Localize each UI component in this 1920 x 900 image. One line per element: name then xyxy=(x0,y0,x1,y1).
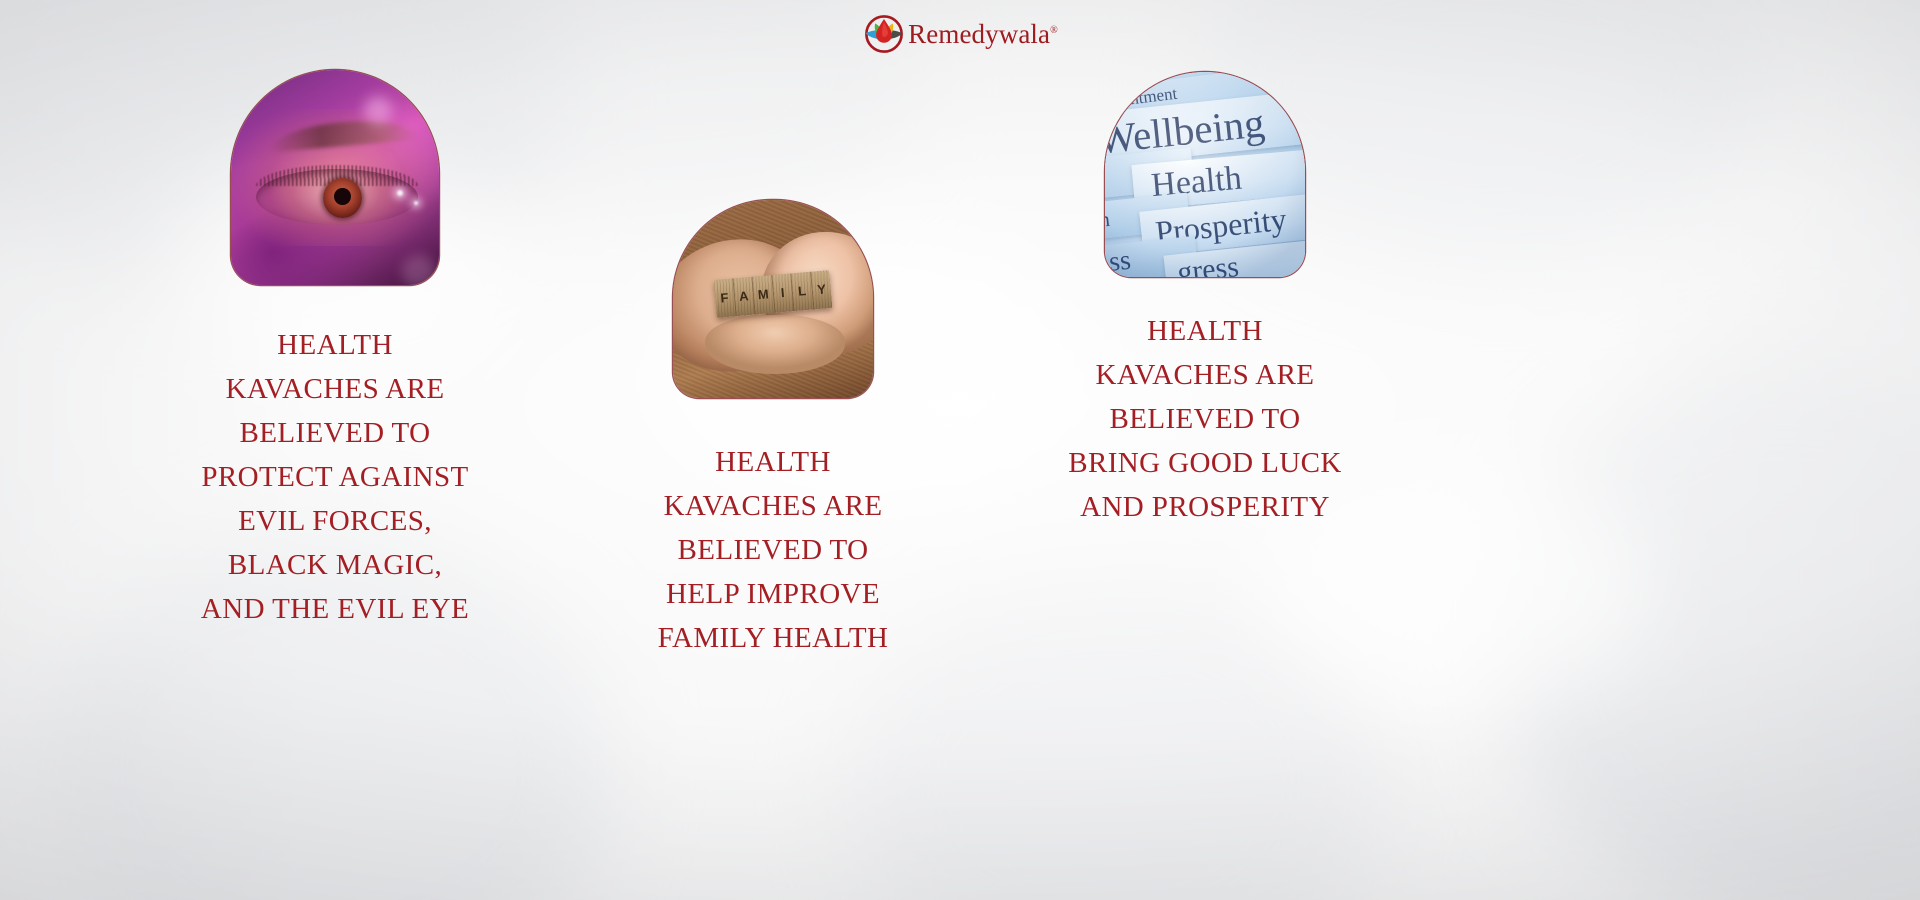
purple-lit-eye-photo xyxy=(231,70,439,285)
benefit-cards: HEALTH KAVACHES ARE BELIEVED TO PROTECT … xyxy=(0,0,1920,900)
paper-strips-art: ntentment Wellbeing ar Health tion Prosp… xyxy=(1105,72,1305,277)
fingers xyxy=(705,315,845,374)
letter-block: Y xyxy=(811,270,833,309)
brand-logo-bar: Remedywala® xyxy=(0,10,1920,58)
brand-name: Remedywala® xyxy=(908,21,1058,48)
registered-trademark-mark: ® xyxy=(1050,25,1058,36)
card-evil-eye: HEALTH KAVACHES ARE BELIEVED TO PROTECT … xyxy=(90,70,580,632)
blue-tint-overlay xyxy=(1105,72,1305,277)
card-family-health: F A M I L Y HEALTH KAVACHES ARE BELIEVED… xyxy=(528,200,1018,660)
brand-name-text: Remedywala xyxy=(908,19,1050,49)
card-good-luck-prosperity: ntentment Wellbeing ar Health tion Prosp… xyxy=(960,72,1450,529)
card-caption: HEALTH KAVACHES ARE BELIEVED TO PROTECT … xyxy=(201,323,469,632)
brand-logo[interactable]: Remedywala® xyxy=(862,12,1058,56)
card-caption: HEALTH KAVACHES ARE BELIEVED TO BRING GO… xyxy=(1068,309,1341,529)
paper-strips-wellbeing-photo: ntentment Wellbeing ar Health tion Prosp… xyxy=(1105,72,1305,277)
card-caption: HEALTH KAVACHES ARE BELIEVED TO HELP IMP… xyxy=(658,440,889,660)
lotus-droplet-icon xyxy=(862,12,906,56)
eye-image-art xyxy=(231,70,439,285)
lens-flare xyxy=(402,255,436,285)
family-image-art: F A M I L Y xyxy=(673,200,873,398)
hands-holding-family-blocks-photo: F A M I L Y xyxy=(673,200,873,398)
lens-flare xyxy=(364,96,392,124)
pupil xyxy=(334,188,351,205)
